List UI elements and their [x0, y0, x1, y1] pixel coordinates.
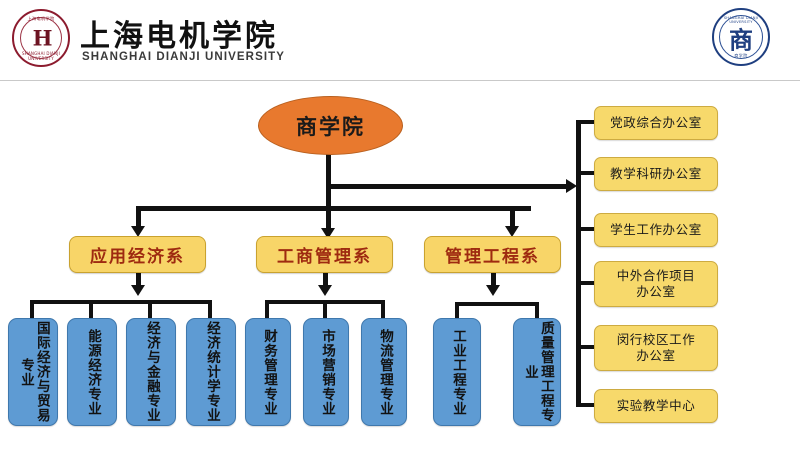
node-major-financial-management[interactable]: 财务管理专业 [245, 318, 291, 426]
node-office-minhang-campus[interactable]: 闵行校区工作 办公室 [594, 325, 718, 371]
node-root-business-school[interactable]: 商学院 [258, 96, 403, 155]
office-label: 党政综合办公室 [610, 115, 702, 131]
major-label: 能源经济专业 [84, 329, 100, 416]
connector-dept2-drop-3 [381, 300, 385, 319]
connector-dept1-drop-1 [30, 300, 34, 319]
header-divider [0, 80, 800, 81]
node-office-experimental-teaching-center[interactable]: 实验教学中心 [594, 389, 718, 423]
major-label: 财务管理专业 [260, 329, 276, 416]
major-label: 国际经济与贸易专业 [17, 319, 49, 425]
office-label-line1: 闵行校区工作 [617, 332, 696, 347]
connector-office-stub-4 [576, 281, 596, 285]
connector-dept1-drop-4 [208, 300, 212, 319]
office-label-line2: 办公室 [636, 284, 675, 299]
connector-dept2-drop-1 [265, 300, 269, 319]
office-label-line2: 办公室 [636, 348, 675, 363]
major-label: 工业工程专业 [449, 329, 465, 416]
node-major-quality-management-engineering[interactable]: 质量管理工程专业 [513, 318, 561, 426]
node-major-marketing[interactable]: 市场营销专业 [303, 318, 349, 426]
connector-dept3-drop-2 [535, 302, 539, 319]
university-name-cn: 上海电机学院 [80, 11, 278, 55]
office-label-line1: 中外合作项目 [617, 268, 696, 283]
connector-dept3-bar [455, 302, 539, 306]
connector-department-bar [136, 206, 531, 211]
major-label: 物流管理专业 [376, 329, 392, 416]
connector-office-stub-3 [576, 227, 596, 231]
crest-arc-bottom-text: SHANGHAI DIANJI UNIVERSITY [14, 51, 68, 61]
seal-arc-bottom-text: 商学院 [714, 53, 768, 59]
business-school-seal-icon: SHANGHAI DIANJI UNIVERSITY 商 商学院 [712, 8, 770, 66]
office-label: 学生工作办公室 [610, 222, 702, 238]
crest-monogram: H [33, 26, 50, 51]
node-major-industrial-engineering[interactable]: 工业工程专业 [433, 318, 481, 426]
connector-office-bus-horizontal [326, 184, 571, 189]
major-label: 市场营销专业 [318, 329, 334, 416]
node-office-party-admin[interactable]: 党政综合办公室 [594, 106, 718, 140]
connector-dept2-stem-arrow [318, 285, 332, 296]
page-header: 上海电机学院 H SHANGHAI DIANJI UNIVERSITY 上海电机… [0, 0, 800, 80]
connector-dept1-drop-3 [148, 300, 152, 319]
node-department-management-engineering[interactable]: 管理工程系 [424, 236, 561, 273]
node-major-economics-finance[interactable]: 经济与金融专业 [126, 318, 176, 426]
office-label: 中外合作项目 办公室 [617, 268, 696, 299]
connector-department-drop-1 [136, 206, 141, 228]
connector-dept1-drop-2 [89, 300, 93, 319]
node-department-applied-economics[interactable]: 应用经济系 [69, 236, 206, 273]
node-department-business-administration[interactable]: 工商管理系 [256, 236, 393, 273]
connector-root-stem [326, 152, 331, 234]
office-label: 实验教学中心 [617, 398, 696, 414]
crest-arc-top-text: 上海电机学院 [14, 16, 68, 22]
major-label: 经济统计学专业 [203, 321, 219, 423]
node-office-international-cooperation[interactable]: 中外合作项目 办公室 [594, 261, 718, 307]
node-major-international-trade[interactable]: 国际经济与贸易专业 [8, 318, 58, 426]
seal-glyph: 商 [729, 21, 753, 56]
connector-dept3-drop-1 [455, 302, 459, 319]
connector-dept2-drop-2 [323, 300, 327, 319]
connector-office-stub-6 [576, 403, 596, 407]
org-chart-canvas: 上海电机学院 H SHANGHAI DIANJI UNIVERSITY 上海电机… [0, 0, 800, 450]
connector-dept3-stem-arrow [486, 285, 500, 296]
node-office-student-affairs[interactable]: 学生工作办公室 [594, 213, 718, 247]
major-label: 质量管理工程专业 [521, 319, 553, 425]
office-label: 闵行校区工作 办公室 [617, 332, 696, 363]
connector-office-bus-vertical [576, 120, 581, 407]
connector-office-stub-1 [576, 120, 596, 124]
connector-dept1-bar [30, 300, 212, 304]
university-logo-left: 上海电机学院 H SHANGHAI DIANJI UNIVERSITY 上海电机… [8, 7, 248, 69]
node-major-energy-economics[interactable]: 能源经济专业 [67, 318, 117, 426]
connector-office-stub-5 [576, 345, 596, 349]
office-label: 教学科研办公室 [610, 166, 702, 182]
university-name-en: SHANGHAI DIANJI UNIVERSITY [82, 51, 285, 63]
sdju-crest-icon: 上海电机学院 H SHANGHAI DIANJI UNIVERSITY [12, 9, 70, 67]
node-major-logistics-management[interactable]: 物流管理专业 [361, 318, 407, 426]
node-major-economic-statistics[interactable]: 经济统计学专业 [186, 318, 236, 426]
major-label: 经济与金融专业 [143, 321, 159, 423]
connector-department-drop-3 [510, 206, 515, 228]
connector-dept1-stem-arrow [131, 285, 145, 296]
node-office-teaching-research[interactable]: 教学科研办公室 [594, 157, 718, 191]
business-school-seal-logo: SHANGHAI DIANJI UNIVERSITY 商 商学院 [712, 8, 772, 68]
connector-office-stub-2 [576, 171, 596, 175]
